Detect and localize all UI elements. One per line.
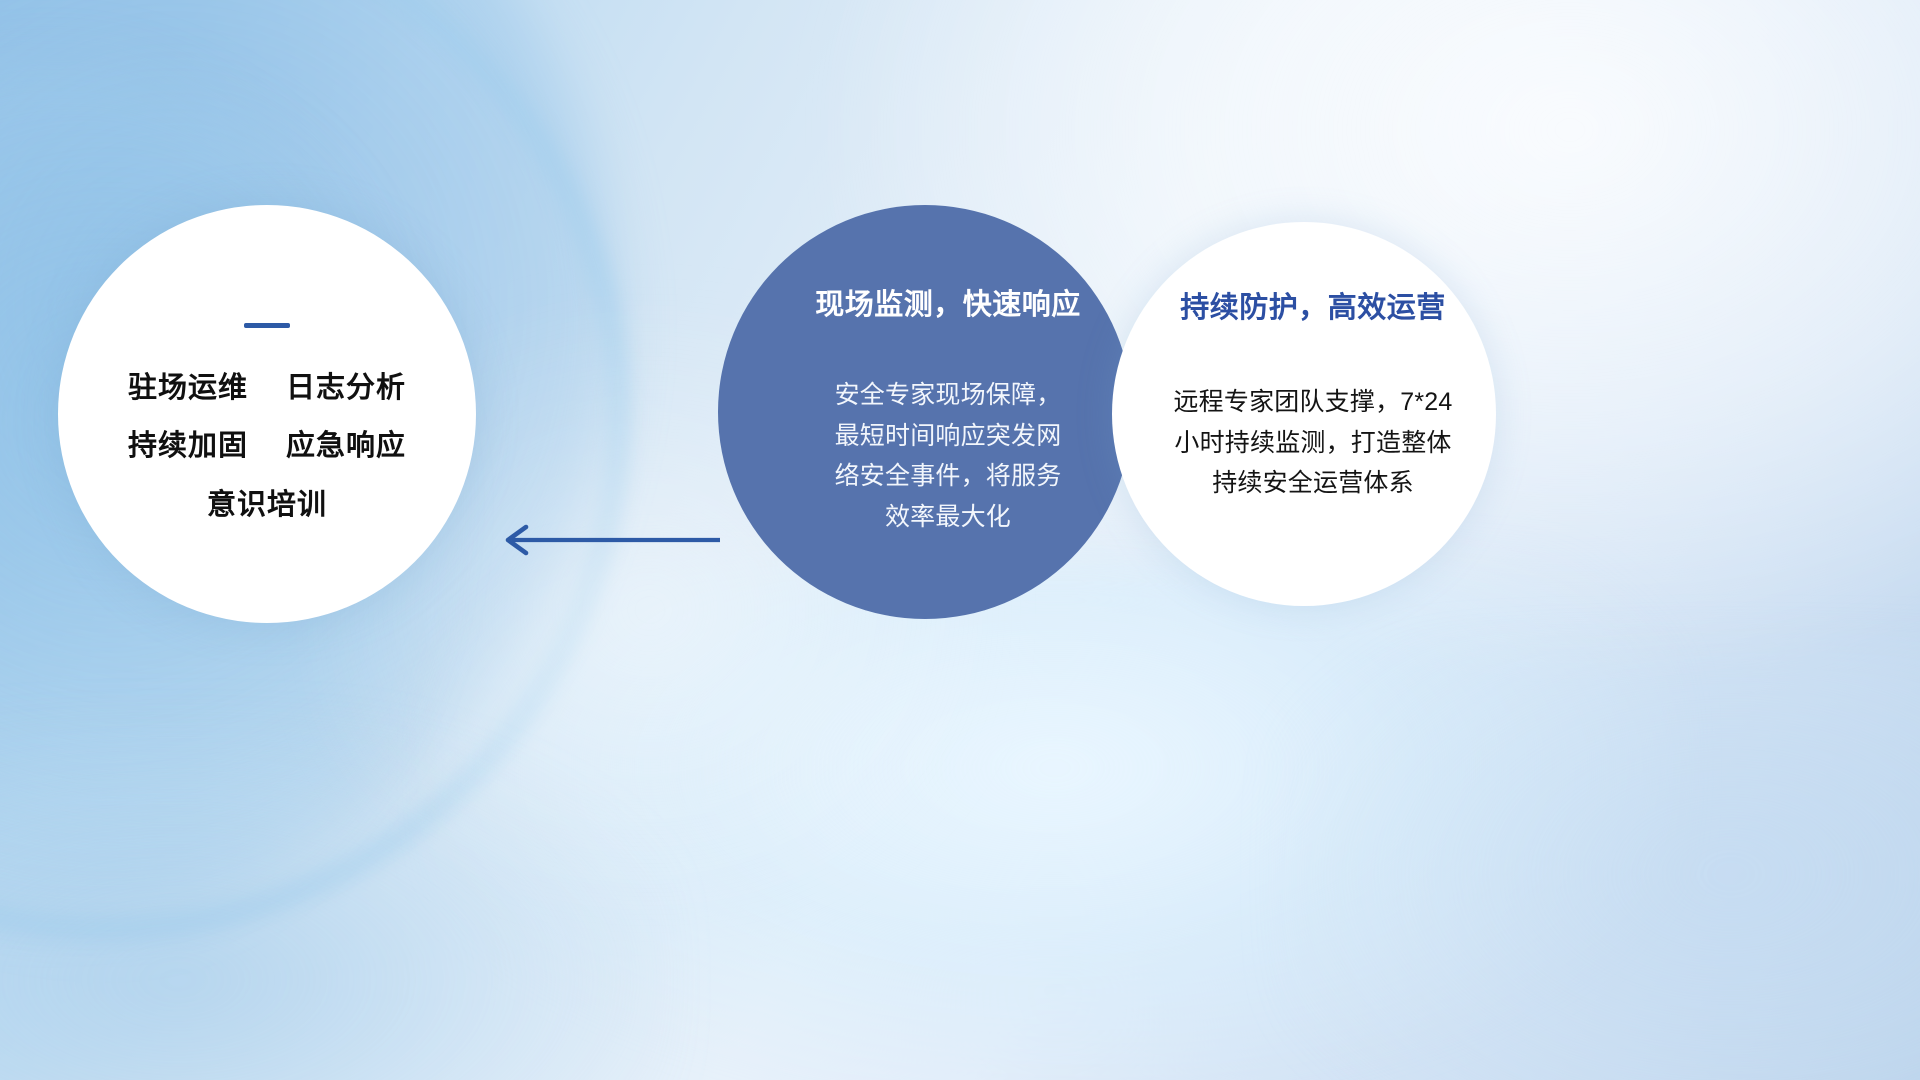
body-line: 络安全事件，将服务 xyxy=(808,456,1088,497)
body-line: 效率最大化 xyxy=(808,497,1088,538)
background-glow-bottom-right xyxy=(1280,640,1920,1080)
keyword: 应急响应 xyxy=(286,431,406,461)
keyword-row: 驻场运维 日志分析 xyxy=(128,373,406,403)
keyword: 日志分析 xyxy=(286,373,406,403)
arrow-icon xyxy=(492,520,720,560)
body-line: 远程专家团队支撑，7*24 xyxy=(1141,382,1486,423)
body-line: 安全专家现场保障， xyxy=(808,375,1088,416)
left-pointing-arrow xyxy=(492,520,720,560)
circle-continuous-protection-title: 持续防护，高效运营 xyxy=(1180,284,1446,326)
circle-onsite-monitoring-body: 安全专家现场保障， 最短时间响应突发网 络安全事件，将服务 效率最大化 xyxy=(808,375,1088,537)
circle-onsite-monitoring[interactable]: 现场监测，快速响应 安全专家现场保障， 最短时间响应突发网 络安全事件，将服务 … xyxy=(718,205,1132,619)
diagram-canvas: 现场监测，快速响应 安全专家现场保障， 最短时间响应突发网 络安全事件，将服务 … xyxy=(0,0,1920,1080)
keyword: 持续加固 xyxy=(128,431,248,461)
circle-onsite-capabilities-content: 驻场运维 日志分析 持续加固 应急响应 意识培训 xyxy=(58,323,476,520)
keyword-row: 持续加固 应急响应 xyxy=(128,431,406,461)
keyword: 意识培训 xyxy=(207,490,327,520)
body-line: 持续安全运营体系 xyxy=(1141,463,1486,504)
body-line: 最短时间响应突发网 xyxy=(808,416,1088,457)
circle-onsite-monitoring-content: 现场监测，快速响应 安全专家现场保障， 最短时间响应突发网 络安全事件，将服务 … xyxy=(718,281,1132,537)
circle-onsite-capabilities[interactable]: 驻场运维 日志分析 持续加固 应急响应 意识培训 xyxy=(58,205,476,623)
body-line: 小时持续监测，打造整体 xyxy=(1141,423,1486,464)
circle-continuous-protection[interactable]: 持续防护，高效运营 远程专家团队支撑，7*24 小时持续监测，打造整体 持续安全… xyxy=(1112,222,1496,606)
circle-continuous-protection-body: 远程专家团队支撑，7*24 小时持续监测，打造整体 持续安全运营体系 xyxy=(1141,382,1486,504)
keyword: 驻场运维 xyxy=(128,373,248,403)
circle-continuous-protection-content: 持续防护，高效运营 远程专家团队支撑，7*24 小时持续监测，打造整体 持续安全… xyxy=(1112,284,1496,504)
keyword-row: 意识培训 xyxy=(207,490,327,520)
dash-divider-icon xyxy=(244,323,290,328)
circle-onsite-monitoring-title: 现场监测，快速响应 xyxy=(815,281,1081,323)
